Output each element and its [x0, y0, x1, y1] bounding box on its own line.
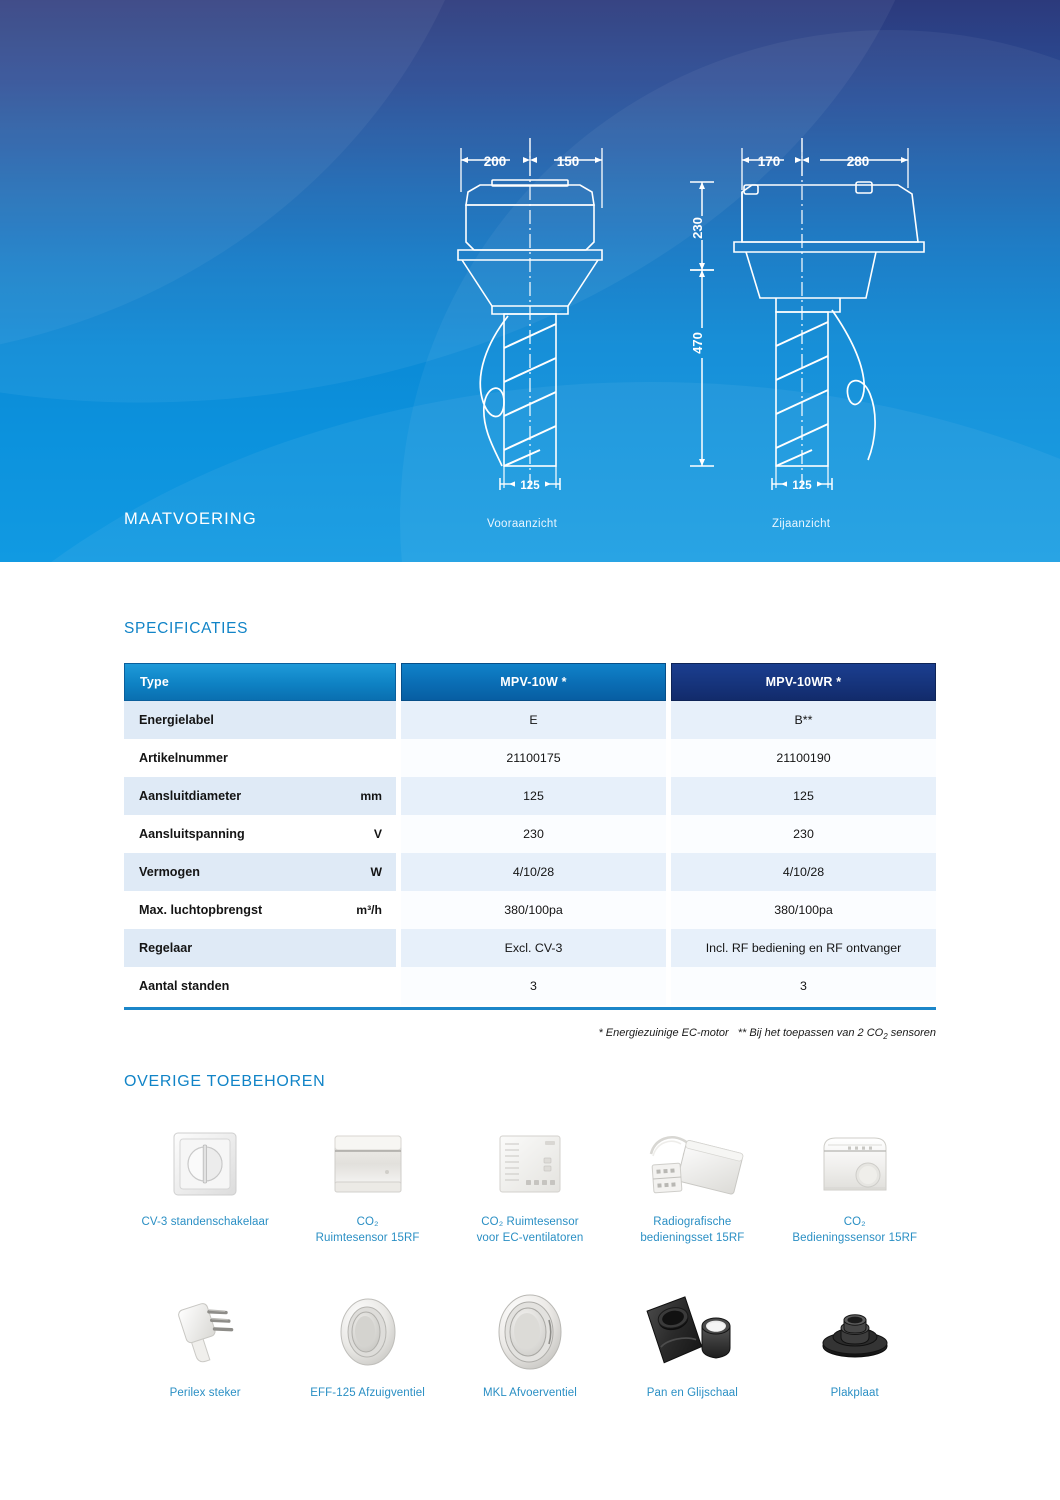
side-dim-height-top-label: 230	[690, 217, 705, 239]
table-row: Aansluitdiameter mm 125 125	[124, 777, 936, 815]
table-header-row: Type MPV-10W * MPV-10WR *	[124, 663, 936, 701]
plakplaat-icon	[810, 1300, 900, 1364]
accessory-item[interactable]: EFF-125 Afzuigventiel	[286, 1285, 448, 1401]
accessory-image	[640, 1285, 744, 1379]
accessory-label-line2: MKL Afvoerventiel	[483, 1385, 577, 1401]
front-view-caption: Vooraanzicht	[487, 518, 557, 530]
accessory-label: Plakplaat	[831, 1385, 879, 1401]
side-view-caption: Zijaanzicht	[772, 518, 830, 530]
row-value-a: 21100175	[401, 739, 666, 777]
co2-room-sensor-icon	[329, 1132, 407, 1196]
accessory-label-line2: voor EC-ventilatoren	[477, 1230, 584, 1246]
accessory-label: EFF-125 Afzuigventiel	[310, 1385, 425, 1401]
row-label: Vermogen	[139, 865, 370, 879]
mkl-valve-icon	[487, 1290, 573, 1374]
row-label: Aantal standen	[139, 979, 382, 993]
side-dim-left-label: 170	[758, 154, 781, 169]
accessory-label-line2: Pan en Glijschaal	[647, 1385, 738, 1401]
front-dim-left-label: 200	[484, 154, 507, 169]
footnote-two-post: sensoren	[888, 1027, 936, 1039]
row-label-cell: Artikelnummer	[124, 739, 396, 777]
accessory-label-line2: CV-3 standenschakelaar	[141, 1214, 269, 1230]
side-dim-duct-label: 125	[792, 480, 812, 492]
row-label-cell: Max. luchtopbrengst m³/h	[124, 891, 396, 929]
table-row: Vermogen W 4/10/28 4/10/28	[124, 853, 936, 891]
accessory-item[interactable]: Perilex steker	[124, 1285, 286, 1401]
footnote-one: * Energiezuinige EC-motor	[598, 1027, 728, 1039]
row-value-b: 125	[671, 777, 936, 815]
maatvoering-hero-banner: 200 150 125	[0, 0, 1060, 562]
accessory-label: Radiografische bedieningsset 15RF	[640, 1214, 744, 1246]
table-bottom-rule	[124, 1007, 936, 1010]
accessory-item[interactable]: Pan en Glijschaal	[611, 1285, 773, 1401]
co2-ec-sensor-icon	[495, 1132, 565, 1196]
accessory-label-line2: bedieningsset 15RF	[640, 1230, 744, 1246]
accessory-image	[495, 1120, 565, 1208]
row-value-b: 21100190	[671, 739, 936, 777]
accessory-item[interactable]: Radiografische bedieningsset 15RF	[611, 1120, 773, 1246]
table-header-mpv10w: MPV-10W *	[401, 663, 666, 701]
row-value-b: 230	[671, 815, 936, 853]
accessory-label: MKL Afvoerventiel	[483, 1385, 577, 1401]
accessory-label-line2: Perilex steker	[170, 1385, 241, 1401]
accessory-item[interactable]: Plakplaat	[774, 1285, 936, 1401]
table-row: Max. luchtopbrengst m³/h 380/100pa 380/1…	[124, 891, 936, 929]
row-unit: mm	[360, 789, 382, 803]
row-unit: W	[370, 865, 382, 879]
accessory-label: Pan en Glijschaal	[647, 1385, 738, 1401]
row-value-b: 380/100pa	[671, 891, 936, 929]
row-value-a: 230	[401, 815, 666, 853]
accessory-image	[487, 1285, 573, 1379]
table-footnotes: * Energiezuinige EC-motor** Bij het toep…	[124, 1027, 936, 1041]
co2-control-sensor-icon	[816, 1132, 894, 1196]
rotary-switch-icon	[169, 1128, 241, 1200]
accessory-label-line1: CO₂	[844, 1216, 866, 1228]
row-value-b: 3	[671, 967, 936, 1005]
row-value-a: Excl. CV-3	[401, 929, 666, 967]
table-header-mpv10wr: MPV-10WR *	[671, 663, 936, 701]
row-value-b: Incl. RF bediening en RF ontvanger	[671, 929, 936, 967]
front-view-technical-drawing: 200 150 125	[430, 130, 650, 510]
table-header-type: Type	[124, 663, 396, 701]
accessory-label: CO₂ Bedieningssensor 15RF	[792, 1214, 917, 1246]
specificaties-heading: SPECIFICATIES	[124, 620, 248, 638]
accessories-row-1: CV-3 standenschakelaar CO₂ Ruimte	[124, 1120, 936, 1246]
row-label: Regelaar	[139, 941, 382, 955]
accessory-image	[329, 1285, 407, 1379]
accessory-label-line2: EFF-125 Afzuigventiel	[310, 1385, 425, 1401]
accessory-item[interactable]: CO₂ Ruimtesensor voor EC-ventilatoren	[449, 1120, 611, 1246]
side-view-technical-drawing: 170 280 230 470 125	[680, 130, 940, 510]
front-dim-right-label: 150	[557, 154, 580, 169]
accessory-image	[169, 1120, 241, 1208]
accessory-label-line1: CO₂ Ruimtesensor	[481, 1216, 578, 1228]
row-label-cell: Vermogen W	[124, 853, 396, 891]
accessory-label: CO₂ Ruimtesensor 15RF	[316, 1214, 420, 1246]
row-unit: m³/h	[356, 903, 382, 917]
row-value-a: 3	[401, 967, 666, 1005]
row-label: Aansluitdiameter	[139, 789, 360, 803]
accessory-label: Perilex steker	[170, 1385, 241, 1401]
row-label-cell: Regelaar	[124, 929, 396, 967]
row-label-cell: Energielabel	[124, 701, 396, 739]
table-row: Aantal standen 3 3	[124, 967, 936, 1005]
accessory-image	[167, 1285, 243, 1379]
accessory-label: CO₂ Ruimtesensor voor EC-ventilatoren	[477, 1214, 584, 1246]
accessories-row-2: Perilex steker	[124, 1285, 936, 1401]
rf-control-set-icon	[637, 1126, 747, 1202]
accessory-image-wrap[interactable]: MKL Afvoerventiel	[449, 1285, 611, 1401]
row-label: Aansluitspanning	[139, 827, 374, 841]
row-value-a: E	[401, 701, 666, 739]
row-value-a: 125	[401, 777, 666, 815]
row-label-cell: Aansluitspanning V	[124, 815, 396, 853]
accessory-image	[637, 1120, 747, 1208]
accessory-image	[810, 1285, 900, 1379]
accessory-label-line1: Radiografische	[653, 1216, 731, 1228]
maatvoering-heading: MAATVOERING	[124, 510, 257, 529]
specificaties-table: Type MPV-10W * MPV-10WR * Energielabel E…	[124, 663, 936, 1010]
accessory-image	[329, 1120, 407, 1208]
table-row: Aansluitspanning V 230 230	[124, 815, 936, 853]
accessory-image	[816, 1120, 894, 1208]
footnote-two-pre: ** Bij het toepassen van 2 CO	[738, 1027, 884, 1039]
row-value-b: B**	[671, 701, 936, 739]
table-row: Regelaar Excl. CV-3 Incl. RF bediening e…	[124, 929, 936, 967]
overige-toebehoren-heading: OVERIGE TOEBEHOREN	[124, 1073, 325, 1091]
row-label: Artikelnummer	[139, 751, 382, 765]
eff125-valve-icon	[329, 1293, 407, 1371]
accessory-label: CV-3 standenschakelaar	[141, 1214, 269, 1230]
row-value-b: 4/10/28	[671, 853, 936, 891]
pan-glijschaal-icon	[640, 1294, 744, 1370]
accessory-item[interactable]: CO₂ Ruimtesensor 15RF	[286, 1120, 448, 1246]
front-dim-duct-label: 125	[520, 480, 540, 492]
row-label-cell: Aansluitdiameter mm	[124, 777, 396, 815]
accessory-item[interactable]: CO₂ Bedieningssensor 15RF	[774, 1120, 936, 1246]
accessory-item[interactable]: CV-3 standenschakelaar	[124, 1120, 286, 1246]
table-row: Artikelnummer 21100175 21100190	[124, 739, 936, 777]
row-label-cell: Aantal standen	[124, 967, 396, 1005]
accessory-label-line2: Bedieningssensor 15RF	[792, 1230, 917, 1246]
accessory-label-line1: CO₂	[357, 1216, 379, 1228]
side-dim-height-bottom-label: 470	[690, 332, 705, 354]
side-dim-right-label: 280	[847, 154, 870, 169]
perilex-plug-icon	[167, 1294, 243, 1370]
row-value-a: 380/100pa	[401, 891, 666, 929]
row-value-a: 4/10/28	[401, 853, 666, 891]
table-row: Energielabel E B**	[124, 701, 936, 739]
row-label: Energielabel	[139, 713, 382, 727]
accessory-label-line2: Plakplaat	[831, 1385, 879, 1401]
row-unit: V	[374, 827, 382, 841]
row-label: Max. luchtopbrengst	[139, 903, 356, 917]
accessory-label-line2: Ruimtesensor 15RF	[316, 1230, 420, 1246]
